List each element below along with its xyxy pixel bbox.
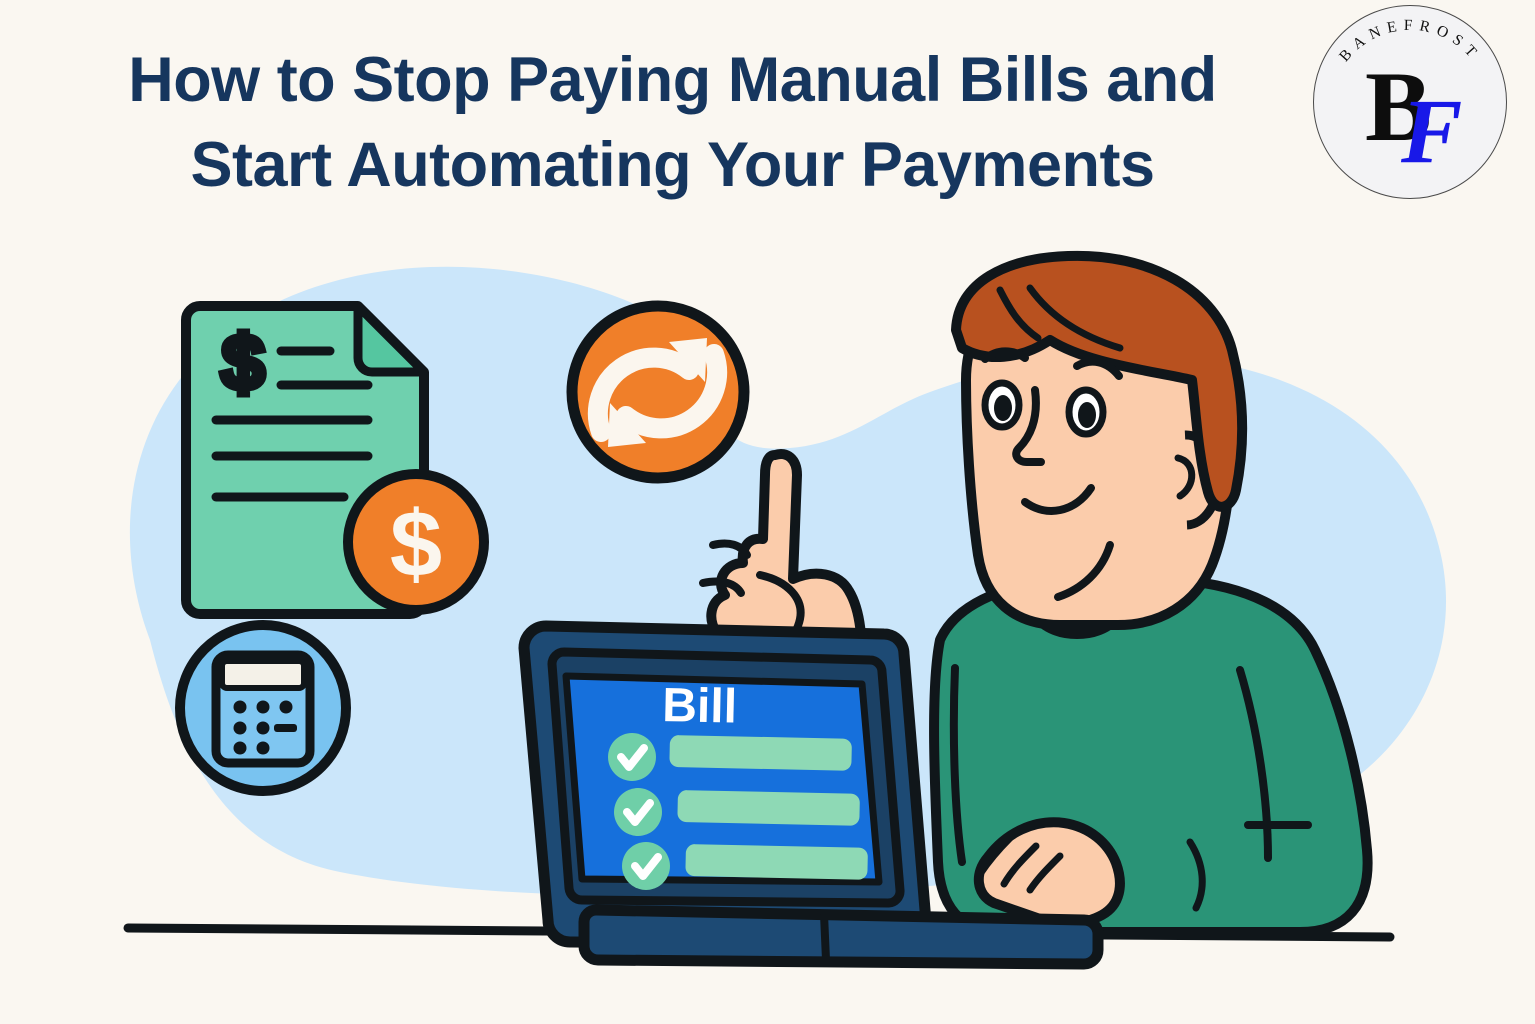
calculator-display [222,661,304,688]
pupil-left [994,395,1012,421]
brand-logo[interactable]: BANEFROST B F [1313,5,1511,203]
screen-bar [685,844,868,880]
dollar-coin: $ [348,474,484,610]
calculator-key [257,722,270,735]
page-title-line-2: Start Automating Your Payments [40,123,1305,208]
calculator-key-wide [274,724,297,732]
page-title-line-1: How to Stop Paying Manual Bills and [40,38,1305,123]
coin-currency-symbol: $ [390,491,442,596]
laptop-base [584,910,1098,964]
calculator-key [234,722,247,735]
poster-canvas: $ $ [0,0,1535,1024]
logo-monogram-f: F [1401,85,1462,177]
calculator-icon [180,625,346,791]
calculator-key [257,742,270,755]
calculator-key [234,701,247,714]
calculator-key [257,701,270,714]
page-title: How to Stop Paying Manual Bills and Star… [40,38,1305,208]
screen-title: Bill [662,679,738,734]
calculator-key [280,701,293,714]
screen-bar [669,735,852,771]
screen-bar [677,790,860,826]
calculator-key [234,742,247,755]
pupil-right [1078,402,1096,428]
laptop-base-divider [824,914,826,960]
auto-payment-refresh-icon [572,306,744,478]
invoice-currency-symbol: $ [222,321,263,404]
resting-hand [979,822,1120,923]
